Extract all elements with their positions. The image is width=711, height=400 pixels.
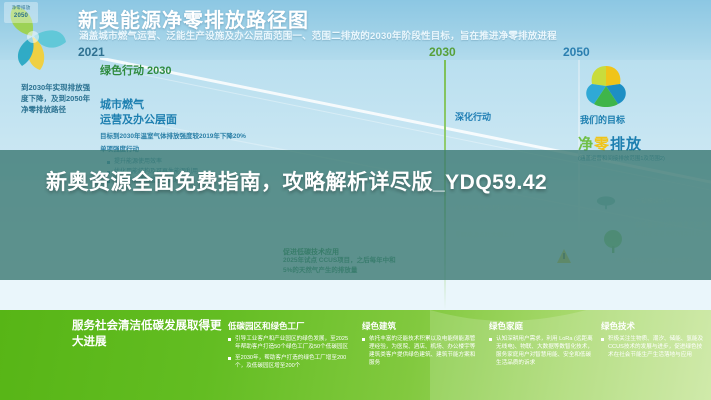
column-item-list: 引导工业客户和产业园区的绿色发展，至2025年帮助客户打造50个绿色工厂及50个… xyxy=(228,335,353,370)
column-heading: 绿色技术 xyxy=(601,320,705,332)
bottom-column-low-carbon-parks: 低碳园区和绿色工厂 引导工业客户和产业园区的绿色发展，至2025年帮助客户打造5… xyxy=(228,320,353,373)
bottom-column-green-homes: 绿色家庭 认知深耕用户需求，利用 LoRa (远距离无线电)、物联、大数据等数智… xyxy=(489,320,594,370)
column-heading: 绿色家庭 xyxy=(489,320,594,332)
bottom-column-green-technology: 绿色技术 积极关注生物质、潮汐、储能、氢能及CCUS技术的发展与进步，促进绿色技… xyxy=(601,320,705,362)
block-city-gas-title-line1: 城市燃气 xyxy=(100,98,144,113)
timeline-year-2021: 2021 xyxy=(78,45,105,59)
bottom-section-title: 服务社会清洁低碳发展取得更大进展 xyxy=(72,318,222,350)
goal-flower-logo-icon xyxy=(580,62,632,108)
list-item: 至2030年，帮助客户打造的绿色工厂增至200个，及低碳园区增至200个 xyxy=(235,354,353,370)
overlay-headline: 新奥资源全面免费指南，攻略解析详尽版_YDQ59.42 xyxy=(46,168,686,198)
column-heading: 绿色建筑 xyxy=(362,320,480,332)
left-side-note: 到2030年实现排放强度下降，及到2050年净零排放路径 xyxy=(21,82,93,115)
logo-badge-line2: 2050 xyxy=(4,12,38,21)
logo-badge: 净零排放 2050 xyxy=(4,2,38,23)
goal-title: 我们的目标 xyxy=(580,113,625,126)
list-item: 认知深耕用户需求，利用 LoRa (远距离无线电)、物联、大数据等数智化技术，服… xyxy=(496,335,594,367)
column-item-list: 积极关注生物质、潮汐、储能、氢能及CCUS技术的发展与进步，促进绿色技术在社会节… xyxy=(601,335,705,359)
program-label-green-action-2030: 绿色行动 2030 xyxy=(100,62,172,78)
logo-badge-line1: 净零排放 xyxy=(4,3,38,12)
timeline-year-2050: 2050 xyxy=(563,45,590,59)
bottom-column-green-buildings: 绿色建筑 依托丰富的泛能技术积累以及电能侧能源管理经验，为医院、酒店、机场、办公… xyxy=(362,320,480,370)
list-item: 引导工业客户和产业园区的绿色发展，至2025年帮助客户打造50个绿色工厂及50个… xyxy=(235,335,353,351)
list-item: 积极关注生物质、潮汐、储能、氢能及CCUS技术的发展与进步，促进绿色技术在社会节… xyxy=(608,335,705,359)
column-heading: 低碳园区和绿色工厂 xyxy=(228,320,353,332)
infographic-poster: 净零排放 2050 新奥能源净零排放路径图 涵盖城市燃气运营、泛能生产设施及办公… xyxy=(0,0,711,400)
timeline-year-2030: 2030 xyxy=(429,45,456,59)
block-city-gas-title-line2: 运营及办公层面 xyxy=(100,113,177,128)
list-item: 依托丰富的泛能技术积累以及电能侧能源管理经验，为医院、酒店、机场、办公楼宇等建筑… xyxy=(369,335,480,367)
block-city-gas-target: 目标到2030年温室气体排放强度较2019年下降20% xyxy=(100,132,300,142)
column-item-list: 依托丰富的泛能技术积累以及电能侧能源管理经验，为医院、酒店、机场、办公楼宇等建筑… xyxy=(362,335,480,367)
deep-action-label: 深化行动 xyxy=(455,110,491,123)
column-item-list: 认知深耕用户需求，利用 LoRa (远距离无线电)、物联、大数据等数智化技术，服… xyxy=(489,335,594,367)
page-subtitle: 涵盖城市燃气运营、泛能生产设施及办公层面范围一、范围二排放的2030年阶段性目标… xyxy=(79,28,709,42)
